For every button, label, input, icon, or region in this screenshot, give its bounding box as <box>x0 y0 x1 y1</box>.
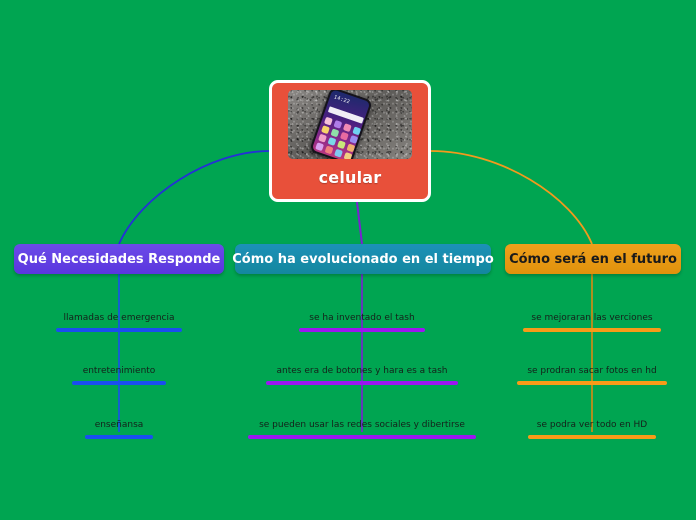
root-node[interactable]: 14:22 celular <box>269 80 431 202</box>
leaf-item[interactable]: se ha inventado el tash <box>299 312 425 332</box>
leaf-item[interactable]: llamadas de emergencia <box>56 312 182 332</box>
leaf-label: se ha inventado el tash <box>309 312 414 324</box>
leaf-item[interactable]: entretenimiento <box>72 365 166 385</box>
leaf-label: se podra ver todo en HD <box>537 419 647 431</box>
phone-app-icon <box>352 126 361 135</box>
leaf-label: se mejoraran las verciones <box>531 312 652 324</box>
leaf-item[interactable]: enseñansa <box>85 419 153 439</box>
phone-app-grid <box>315 117 362 159</box>
leaf-item[interactable]: se podra ver todo en HD <box>528 419 656 439</box>
phone-app-icon <box>315 142 324 151</box>
phone-app-icon <box>344 152 353 159</box>
leaf-item[interactable]: se prodran sacar fotos en hd <box>517 365 667 385</box>
phone-app-icon <box>325 145 334 154</box>
leaf-underline-bar <box>266 381 458 385</box>
leaf-underline-bar <box>85 435 153 439</box>
leaf-underline-bar <box>517 381 667 385</box>
leaf-underline-bar <box>72 381 166 385</box>
phone-app-icon <box>318 134 327 143</box>
leaf-label: se prodran sacar fotos en hd <box>527 365 656 377</box>
leaf-underline-bar <box>56 328 182 332</box>
phone-app-icon <box>330 128 339 137</box>
phone-app-icon <box>328 137 337 146</box>
leaf-item[interactable]: se mejoraran las verciones <box>523 312 661 332</box>
leaf-underline-bar <box>523 328 661 332</box>
phone-app-icon <box>340 132 349 141</box>
branch-node-0[interactable]: Qué Necesidades Responde <box>14 244 224 274</box>
leaf-label: antes era de botones y hara es a tash <box>277 365 448 377</box>
leaf-label: entretenimiento <box>83 365 156 377</box>
root-title: celular <box>319 168 382 187</box>
phone-app-icon <box>334 149 343 158</box>
phone-app-icon <box>349 135 358 144</box>
mindmap-canvas: 14:22 celular Qué Necesidades Responde C… <box>0 0 696 520</box>
leaf-label: llamadas de emergencia <box>64 312 175 324</box>
leaf-item[interactable]: antes era de botones y hara es a tash <box>266 365 458 385</box>
phone-app-icon <box>346 143 355 152</box>
leaf-item[interactable]: se pueden usar las redes sociales y dibe… <box>248 419 476 439</box>
phone-app-icon <box>333 120 342 129</box>
leaf-label: enseñansa <box>95 419 144 431</box>
leaf-underline-bar <box>299 328 425 332</box>
leaf-underline-bar <box>248 435 476 439</box>
phone-clock-label: 14:22 <box>333 94 351 105</box>
phone-app-icon <box>324 117 333 126</box>
branch-node-2[interactable]: Cómo será en el futuro <box>505 244 681 274</box>
branch-node-1[interactable]: Cómo ha evolucionado en el tiempo <box>235 244 491 274</box>
root-image: 14:22 <box>288 90 412 159</box>
phone-app-icon <box>321 125 330 134</box>
phone-app-icon <box>343 123 352 132</box>
leaf-label: se pueden usar las redes sociales y dibe… <box>259 419 465 431</box>
phone-app-icon <box>337 140 346 149</box>
leaf-underline-bar <box>528 435 656 439</box>
